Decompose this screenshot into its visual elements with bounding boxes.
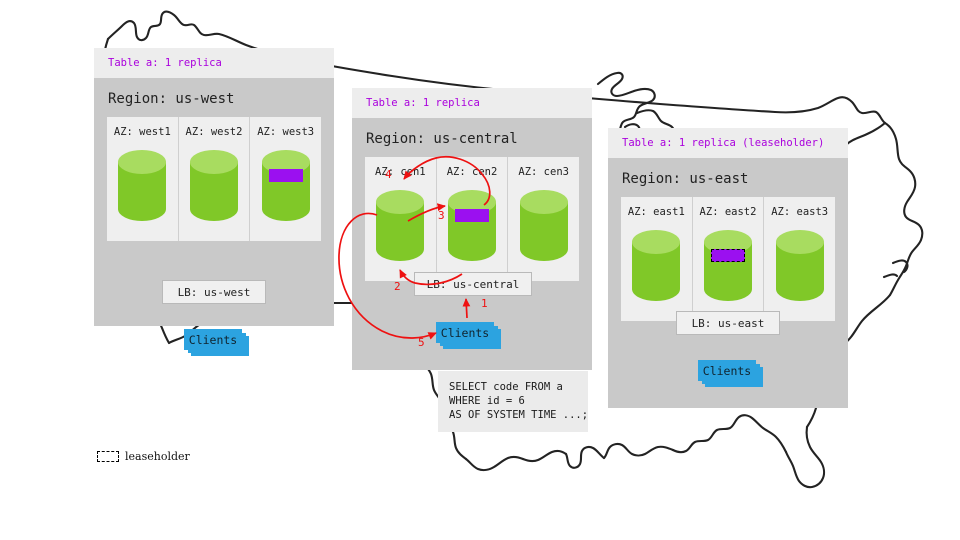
- dashed-rectangle-icon: [97, 451, 119, 462]
- database-cylinder-cen2[interactable]: [447, 188, 497, 263]
- load-balancer-us-central[interactable]: LB: us-central: [414, 272, 532, 296]
- step-number-4: 4: [385, 168, 392, 181]
- database-cylinder-west2[interactable]: [189, 148, 239, 223]
- range-replica-west3: [269, 169, 303, 182]
- region-panel-us-central: Table a: 1 replica Region: us-central AZ…: [352, 88, 592, 370]
- load-balancer-us-east[interactable]: LB: us-east: [676, 311, 780, 335]
- region-panel-us-east: Table a: 1 replica (leaseholder) Region:…: [608, 128, 848, 408]
- legend-label: leaseholder: [125, 450, 190, 463]
- az-cell-west2[interactable]: AZ: west2: [179, 117, 251, 241]
- az-label: AZ: west2: [186, 126, 243, 138]
- az-cell-west1[interactable]: AZ: west1: [107, 117, 179, 241]
- az-cell-east3[interactable]: AZ: east3: [764, 197, 835, 321]
- az-label: AZ: cen2: [447, 166, 498, 178]
- database-cylinder-east2[interactable]: [703, 228, 753, 303]
- step-number-1: 1: [481, 297, 488, 310]
- az-label: AZ: cen3: [518, 166, 569, 178]
- clients-button[interactable]: Clients: [184, 329, 242, 350]
- legend-leaseholder: leaseholder: [97, 450, 190, 463]
- clients-label: Clients: [703, 364, 751, 378]
- az-label: AZ: cen1: [375, 166, 426, 178]
- clients-stack-us-west[interactable]: Clients: [184, 329, 250, 357]
- database-cylinder-west3[interactable]: [261, 148, 311, 223]
- clients-stack-us-central[interactable]: Clients: [436, 322, 502, 350]
- replica-label: Table a: 1 replica: [108, 57, 222, 69]
- clients-label: Clients: [189, 333, 237, 347]
- az-cell-east1[interactable]: AZ: east1: [621, 197, 693, 321]
- lb-label: LB: us-east: [692, 317, 765, 330]
- diagram-canvas: Table a: 1 replica Region: us-west AZ: w…: [0, 0, 960, 540]
- replica-label: Table a: 1 replica: [366, 97, 480, 109]
- range-replica-cen2: [455, 209, 489, 222]
- az-strip-us-west: AZ: west1 AZ: west2 AZ:: [107, 117, 321, 241]
- az-label: AZ: west1: [114, 126, 171, 138]
- clients-button[interactable]: Clients: [436, 322, 494, 343]
- database-cylinder-west1[interactable]: [117, 148, 167, 223]
- az-cell-west3[interactable]: AZ: west3: [250, 117, 321, 241]
- region-title: Region: us-central: [352, 118, 592, 157]
- step-number-3: 3: [438, 209, 445, 222]
- region-panel-us-west: Table a: 1 replica Region: us-west AZ: w…: [94, 48, 334, 326]
- az-label: AZ: west3: [257, 126, 314, 138]
- az-cell-east2[interactable]: AZ: east2: [693, 197, 765, 321]
- range-replica-leaseholder-east2: [711, 249, 745, 262]
- database-cylinder-east3[interactable]: [775, 228, 825, 303]
- database-cylinder-east1[interactable]: [631, 228, 681, 303]
- sql-query-note: SELECT code FROM a WHERE id = 6 AS OF SY…: [438, 371, 588, 432]
- region-header-us-east: Table a: 1 replica (leaseholder): [608, 128, 848, 158]
- clients-button[interactable]: Clients: [698, 360, 756, 381]
- region-title: Region: us-east: [608, 158, 848, 197]
- region-header-us-central: Table a: 1 replica: [352, 88, 592, 118]
- lb-label: LB: us-west: [178, 286, 251, 299]
- clients-stack-us-east[interactable]: Clients: [698, 360, 764, 388]
- az-label: AZ: east1: [628, 206, 685, 218]
- az-label: AZ: east3: [771, 206, 828, 218]
- region-header-us-west: Table a: 1 replica: [94, 48, 334, 78]
- lb-label: LB: us-central: [427, 278, 520, 291]
- replica-label: Table a: 1 replica (leaseholder): [622, 137, 824, 149]
- load-balancer-us-west[interactable]: LB: us-west: [162, 280, 266, 304]
- database-cylinder-cen3[interactable]: [519, 188, 569, 263]
- az-cell-cen1[interactable]: AZ: cen1: [365, 157, 437, 281]
- step-number-2: 2: [394, 280, 401, 293]
- az-cell-cen3[interactable]: AZ: cen3: [508, 157, 579, 281]
- clients-label: Clients: [441, 326, 489, 340]
- az-strip-us-central: AZ: cen1 AZ: cen2: [365, 157, 579, 281]
- database-cylinder-cen1[interactable]: [375, 188, 425, 263]
- az-cell-cen2[interactable]: AZ: cen2: [437, 157, 509, 281]
- region-title: Region: us-west: [94, 78, 334, 117]
- az-strip-us-east: AZ: east1 AZ: east2: [621, 197, 835, 321]
- az-label: AZ: east2: [700, 206, 757, 218]
- step-number-5: 5: [418, 336, 425, 349]
